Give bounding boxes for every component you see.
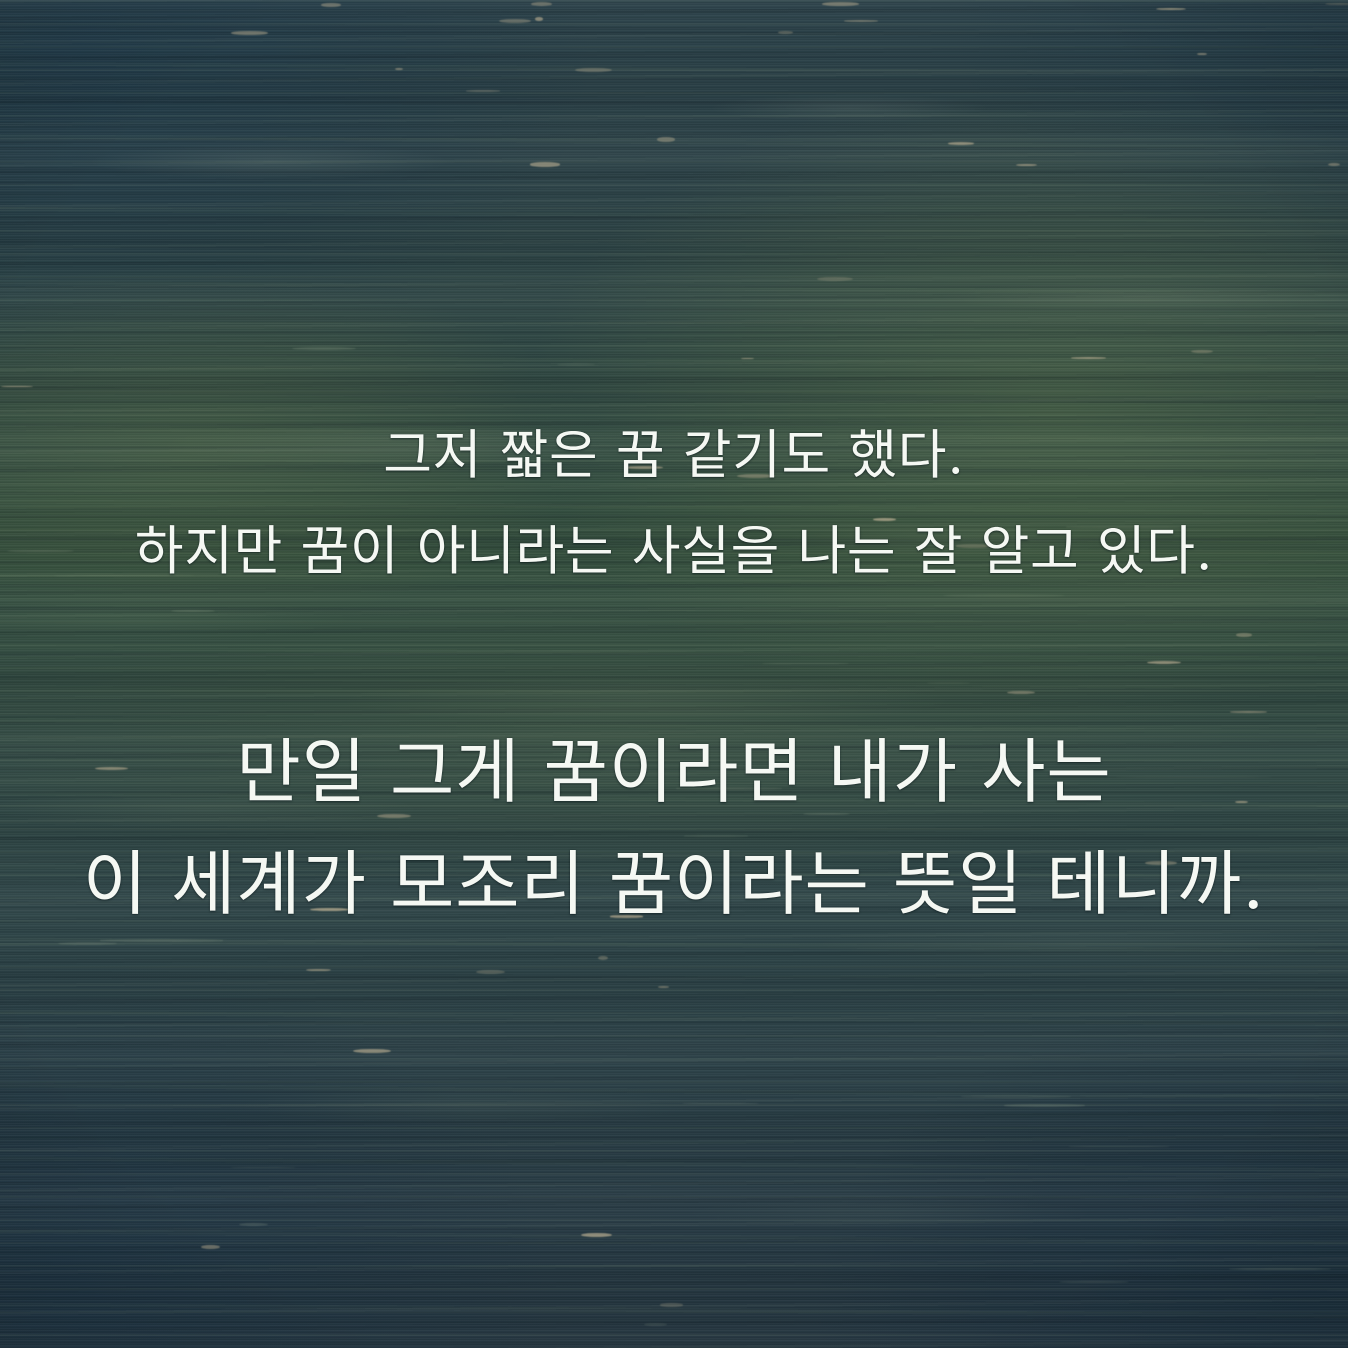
- quote-line-4: 이 세계가 모조리 꿈이라는 뜻일 테니까.: [0, 828, 1348, 940]
- second-stanza: 만일 그게 꿈이라면 내가 사는 이 세계가 모조리 꿈이라는 뜻일 테니까.: [0, 716, 1348, 940]
- quote-text-container: 그저 짧은 꿈 같기도 했다. 하지만 꿈이 아니라는 사실을 나는 잘 알고 …: [0, 0, 1348, 1348]
- quote-image: 그저 짧은 꿈 같기도 했다. 하지만 꿈이 아니라는 사실을 나는 잘 알고 …: [0, 0, 1348, 1348]
- quote-line-2: 하지만 꿈이 아니라는 사실을 나는 잘 알고 있다.: [0, 504, 1348, 600]
- quote-line-3: 만일 그게 꿈이라면 내가 사는: [0, 716, 1348, 828]
- quote-line-1: 그저 짧은 꿈 같기도 했다.: [0, 408, 1348, 504]
- first-stanza: 그저 짧은 꿈 같기도 했다. 하지만 꿈이 아니라는 사실을 나는 잘 알고 …: [0, 408, 1348, 600]
